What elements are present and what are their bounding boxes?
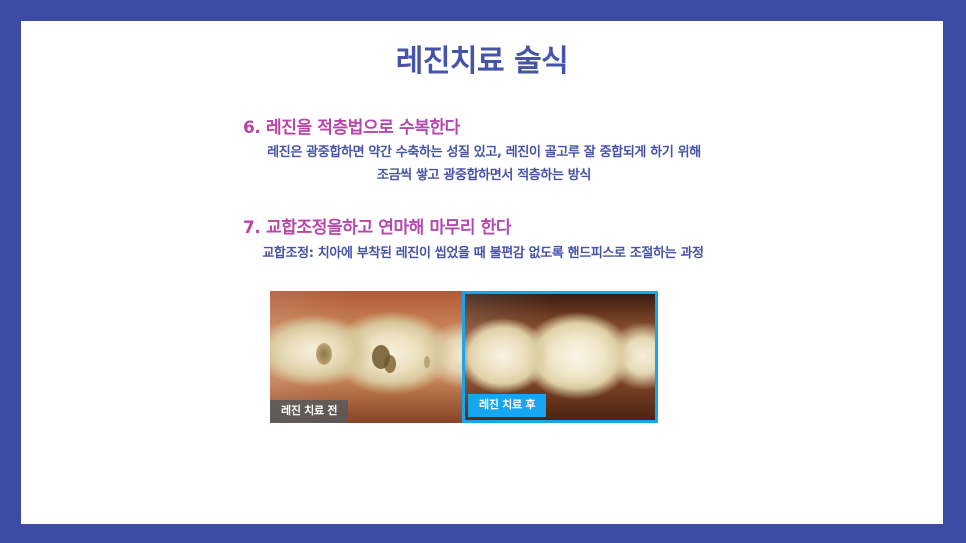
step-6-description-line-2: 조금씩 쌓고 광중합하면서 적층하는 방식 — [21, 166, 943, 186]
before-after-photo-row: 레진 치료 전 레진 치료 후 — [270, 291, 658, 423]
slide-canvas: 레진치료 술식 6. 레진을 적층법으로 수복한다 레진은 광중합하면 약간 수… — [21, 21, 943, 524]
step-6-description-line-1: 레진은 광중합하면 약간 수축하는 성질 있고, 레진이 골고루 잘 중합되게 … — [21, 143, 943, 163]
before-photo-label: 레진 치료 전 — [270, 400, 348, 423]
step-block-7: 7. 교합조정을하고 연마해 마무리 한다 교합조정: 치아에 부착된 레진이 … — [21, 217, 943, 264]
before-photo: 레진 치료 전 — [270, 291, 462, 423]
after-photo-label: 레진 치료 후 — [468, 394, 546, 417]
step-7-description-line-1: 교합조정: 치아에 부착된 레진이 씹었을 때 불편감 없도록 핸드피스로 조절… — [21, 244, 943, 264]
step-6-heading: 6. 레진을 적층법으로 수복한다 — [21, 117, 943, 140]
after-photo: 레진 치료 후 — [462, 291, 658, 423]
step-block-6: 6. 레진을 적층법으로 수복한다 레진은 광중합하면 약간 수축하는 성질 있… — [21, 117, 943, 186]
page-title: 레진치료 술식 — [21, 36, 943, 80]
step-7-heading: 7. 교합조정을하고 연마해 마무리 한다 — [21, 217, 943, 240]
slide-frame: 레진치료 술식 6. 레진을 적층법으로 수복한다 레진은 광중합하면 약간 수… — [0, 0, 966, 543]
slide-content: 6. 레진을 적층법으로 수복한다 레진은 광중합하면 약간 수축하는 성질 있… — [21, 117, 943, 264]
